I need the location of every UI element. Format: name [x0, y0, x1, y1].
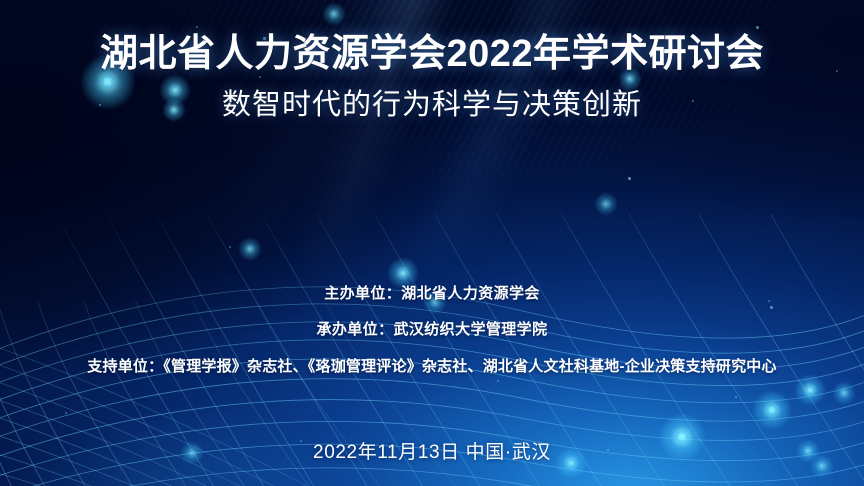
organizer-line: 承办单位：武汉纺织大学管理学院 [0, 318, 864, 339]
conference-title-slide: 湖北省人力资源学会2022年学术研讨会 数智时代的行为科学与决策创新 主办单位：… [0, 0, 864, 486]
page-title: 湖北省人力资源学会2022年学术研讨会 [0, 33, 864, 77]
page-subtitle: 数智时代的行为科学与决策创新 [0, 88, 864, 123]
event-date-location: 2022年11月13日 中国·武汉 [0, 437, 864, 464]
slide-text-layer: 湖北省人力资源学会2022年学术研讨会 数智时代的行为科学与决策创新 主办单位：… [0, 0, 864, 486]
supporting-organizations-line: 支持单位：《管理学报》杂志社、《珞珈管理评论》杂志社、湖北省人文社科基地-企业决… [0, 355, 864, 376]
host-organization-line: 主办单位：湖北省人力资源学会 [0, 282, 864, 303]
